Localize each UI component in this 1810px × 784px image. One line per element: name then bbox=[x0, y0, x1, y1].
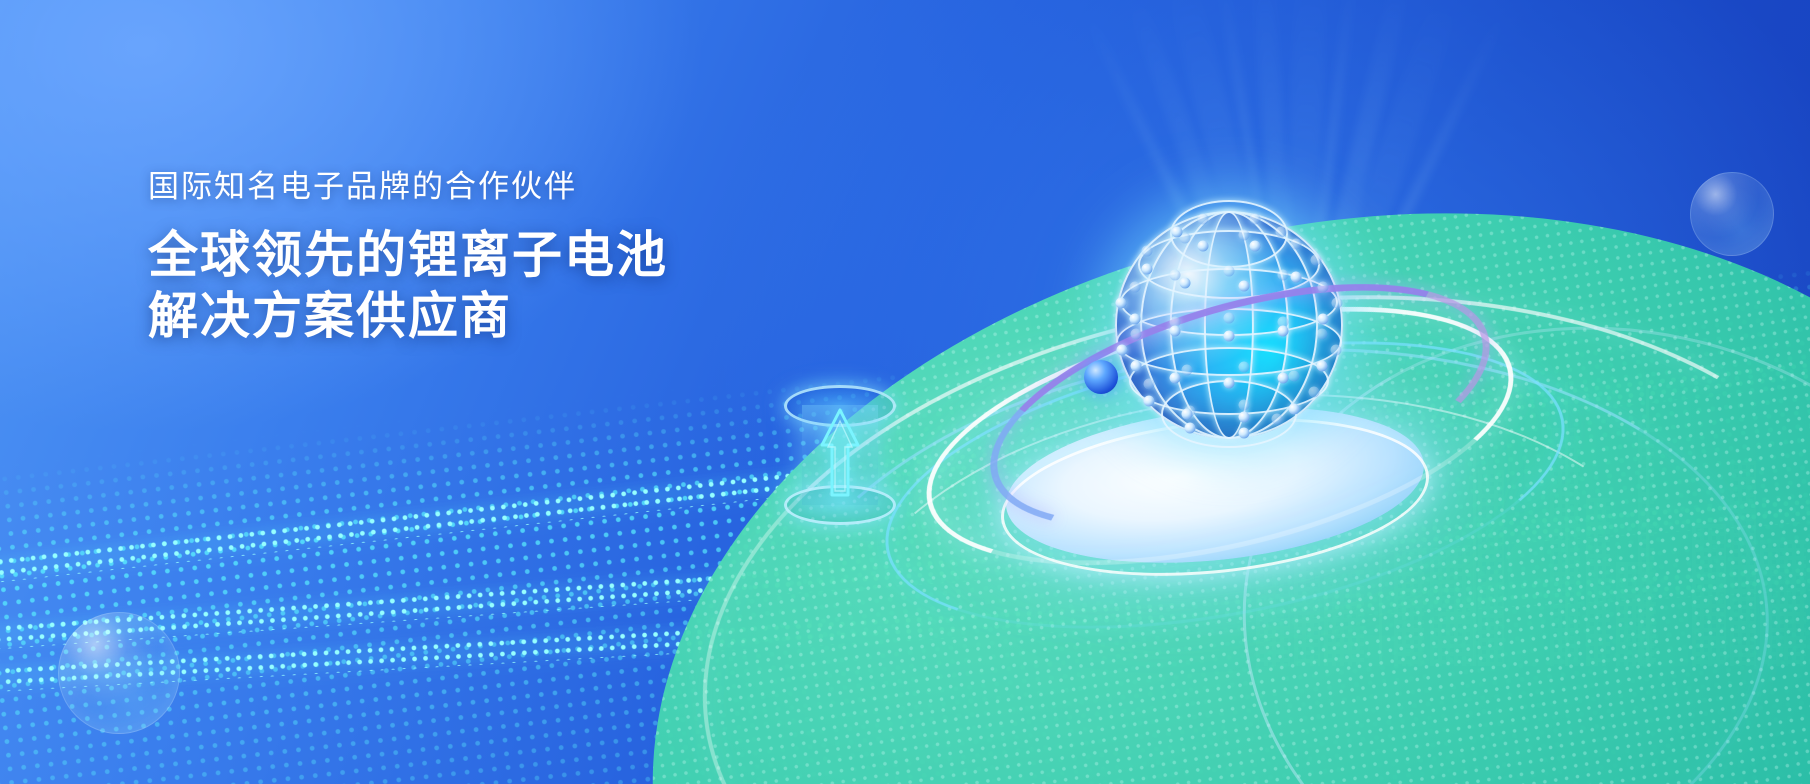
bubble-bottom-left bbox=[58, 612, 180, 734]
globe-node bbox=[1290, 272, 1301, 283]
globe-node bbox=[1198, 240, 1209, 251]
arrow-pedestal bbox=[780, 385, 900, 525]
globe-node bbox=[1115, 298, 1126, 309]
globe-node bbox=[1198, 213, 1209, 224]
globe-node bbox=[1130, 281, 1141, 292]
globe-node bbox=[1238, 428, 1249, 439]
globe-node bbox=[1224, 313, 1235, 324]
globe-node bbox=[1238, 400, 1249, 411]
globe-node bbox=[1275, 227, 1286, 238]
globe-node bbox=[1169, 270, 1180, 281]
globe-node bbox=[1224, 377, 1235, 388]
globe-node bbox=[1131, 361, 1142, 372]
globe-node bbox=[1249, 240, 1260, 251]
globe-node bbox=[1272, 414, 1283, 425]
globe-node bbox=[1332, 298, 1343, 309]
globe-node bbox=[1288, 403, 1299, 414]
wireframe-globe bbox=[1115, 211, 1343, 439]
globe-node bbox=[1239, 281, 1250, 292]
globe-node bbox=[1131, 329, 1142, 340]
globe-node bbox=[1311, 255, 1322, 266]
globe-node bbox=[1181, 409, 1192, 420]
globe-node bbox=[1116, 345, 1127, 356]
globe-node bbox=[1308, 387, 1319, 398]
globe-node bbox=[1278, 270, 1289, 281]
globe-node bbox=[1180, 278, 1191, 289]
globe-node bbox=[1170, 373, 1181, 384]
globe-node bbox=[1142, 264, 1153, 275]
orbit-marker-sphere bbox=[1084, 360, 1118, 394]
globe-node bbox=[1169, 326, 1180, 337]
globe-node bbox=[1142, 246, 1153, 257]
headline: 全球领先的锂离子电池 解决方案供应商 bbox=[148, 225, 668, 347]
globe-node bbox=[1239, 229, 1250, 240]
globe-node bbox=[1238, 362, 1249, 373]
globe-node bbox=[1144, 378, 1155, 389]
globe-node bbox=[1184, 422, 1195, 433]
hero-banner: 国际知名电子品牌的合作伙伴 全球领先的锂离子电池 解决方案供应商 bbox=[0, 0, 1810, 784]
globe-node bbox=[1316, 361, 1327, 372]
eyebrow-text: 国际知名电子品牌的合作伙伴 bbox=[148, 168, 668, 205]
globe-node bbox=[1181, 365, 1192, 376]
headline-line-1: 全球领先的锂离子电池 bbox=[148, 225, 668, 286]
up-arrow-icon bbox=[818, 407, 862, 499]
globe-node bbox=[1317, 314, 1328, 325]
bubble-top-right bbox=[1690, 172, 1774, 256]
globe-node bbox=[1288, 371, 1299, 382]
globe-node bbox=[1316, 329, 1327, 340]
hero-copy: 国际知名电子品牌的合作伙伴 全球领先的锂离子电池 解决方案供应商 bbox=[148, 168, 668, 347]
globe-node bbox=[1331, 345, 1342, 356]
globe-assembly bbox=[1040, 205, 1460, 605]
globe-node bbox=[1224, 265, 1235, 276]
headline-line-2: 解决方案供应商 bbox=[148, 286, 668, 347]
globe-node bbox=[1290, 238, 1301, 249]
globe-node bbox=[1278, 326, 1289, 337]
globe-node bbox=[1224, 330, 1235, 341]
globe-node bbox=[1130, 314, 1141, 325]
globe-node bbox=[1317, 281, 1328, 292]
globe-node bbox=[1172, 227, 1183, 238]
globe-node bbox=[1249, 213, 1260, 224]
globe-node bbox=[1277, 373, 1288, 384]
globe-node bbox=[1238, 412, 1249, 423]
globe-node bbox=[1144, 396, 1155, 407]
